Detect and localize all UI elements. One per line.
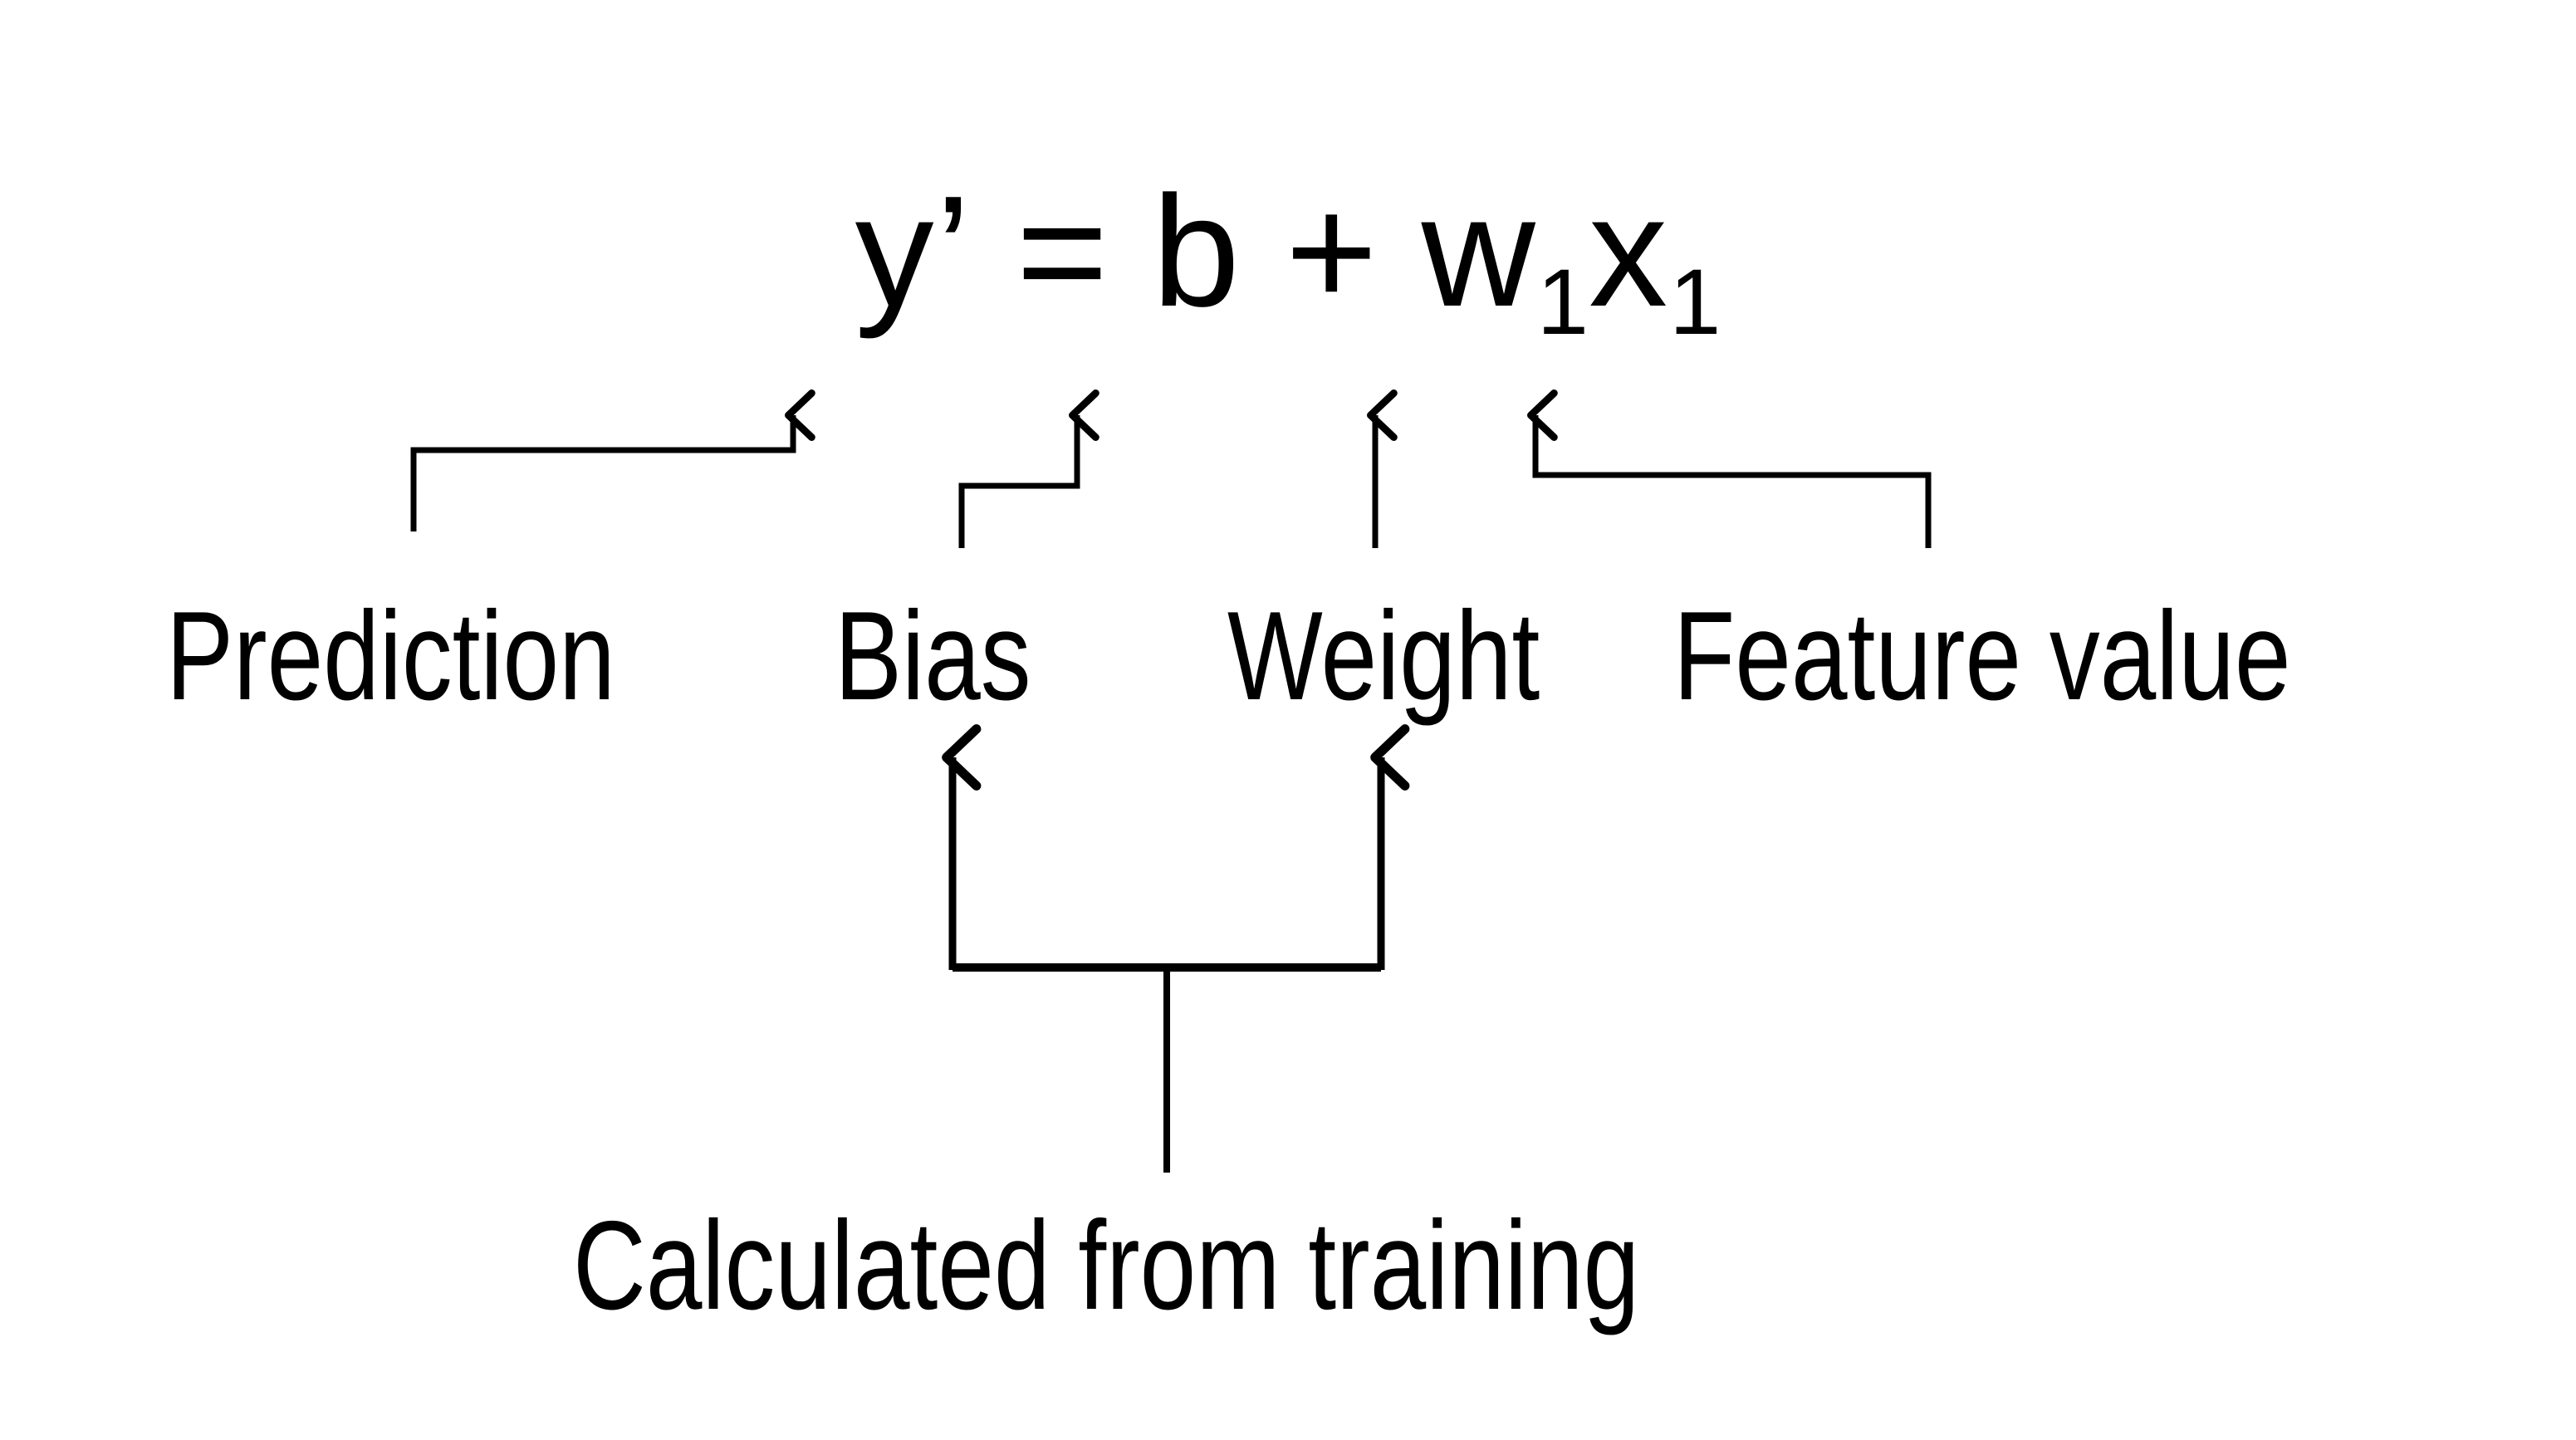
bias-connector [962, 415, 1077, 548]
caption-calculated-from-training: Calculated from training [573, 1202, 1639, 1329]
equation-feature-symbol: x [1589, 164, 1669, 340]
feature-value-connector [1535, 415, 1928, 548]
prediction-arrow-path [414, 415, 793, 531]
label-bias: Bias [835, 593, 1031, 719]
diagram-canvas: y’ = b + w1x1 Prediction Bias Weight Fea… [0, 0, 2576, 1440]
label-prediction: Prediction [166, 593, 615, 719]
prediction-connector [414, 415, 793, 531]
equation-feature-subscript: 1 [1669, 250, 1721, 354]
training-bracket-connector [953, 757, 1381, 1173]
equation-equals-sign: = [972, 164, 1153, 340]
equation-formula: y’ = b + w1x1 [0, 173, 2576, 331]
equation-weight-subscript: 1 [1537, 250, 1589, 354]
label-weight: Weight [1227, 593, 1540, 719]
label-feature-value: Feature value [1673, 593, 2291, 719]
equation-prediction-symbol: y’ [855, 164, 972, 340]
equation-weight-symbol: w [1422, 164, 1537, 340]
equation-bias-symbol: b [1152, 164, 1241, 340]
bias-arrow-path [962, 415, 1077, 548]
equation-plus-sign: + [1241, 164, 1422, 340]
feature-value-arrow-path [1535, 415, 1928, 548]
